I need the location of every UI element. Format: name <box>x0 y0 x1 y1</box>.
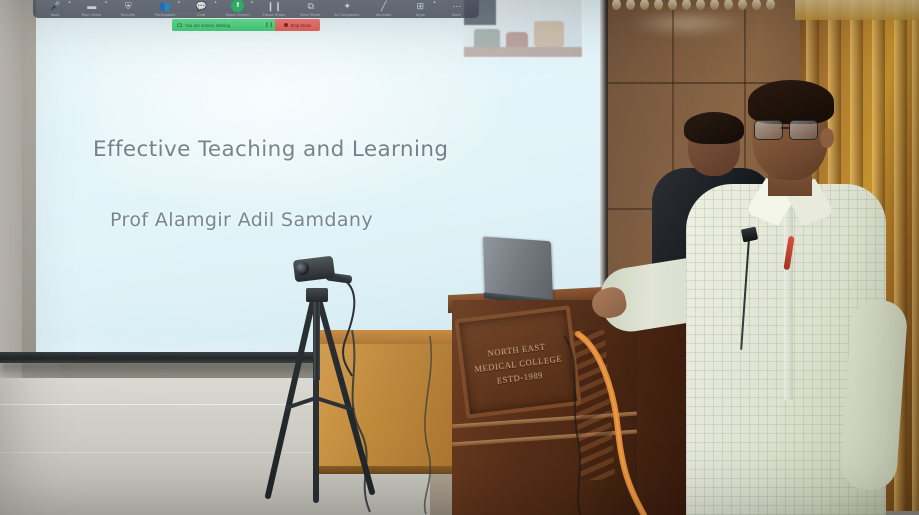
new-share-icon: ⧉ <box>308 1 314 12</box>
zoom-toolbar-item-pause-share[interactable]: ❙❙Pause Share <box>256 0 293 17</box>
pause-share-button[interactable]: ❙❙ <box>263 19 275 31</box>
chevron-up-icon[interactable]: ▲ <box>177 0 181 4</box>
zoom-toolbar-label: Share Screen <box>226 13 250 17</box>
zoom-toolbar-label: Stop Video <box>82 13 101 17</box>
speaker-hair <box>748 80 834 124</box>
left-wall-highlight <box>0 0 22 390</box>
webcam-cable <box>326 268 396 378</box>
tripod-head <box>306 288 328 302</box>
thumbnail-blob-3 <box>534 21 564 47</box>
video-camera-icon: ▬ <box>87 1 96 12</box>
stop-share-label: Stop Share <box>291 23 312 28</box>
participants-count-badge: 1 <box>175 0 177 1</box>
sparkle-icon: ✦ <box>343 1 351 12</box>
sharing-status: You are screen sharing <box>172 19 263 31</box>
zoom-toolbar-label: Annotate <box>376 13 392 17</box>
chevron-up-icon[interactable]: ▲ <box>68 0 72 4</box>
shield-icon: ⛨ <box>125 1 132 12</box>
zoom-toolbar-item-apps[interactable]: ⊞Apps▲ <box>402 0 439 17</box>
zoom-toolbar-label: Apps <box>416 13 425 17</box>
zoom-toolbar-label: More <box>452 13 461 17</box>
seated-person-hair <box>684 112 744 144</box>
projector-glow <box>96 14 526 224</box>
speaker-eyeglasses <box>754 120 826 140</box>
chat-bubble-icon: 💬 <box>196 1 207 12</box>
zoom-toolbar-label: Pause Share <box>263 13 286 17</box>
zoom-toolbar-item-participants[interactable]: 👥Participants▲1 <box>147 0 184 17</box>
pencil-icon: ╱ <box>381 1 386 12</box>
zoom-toolbar-label: Security <box>121 13 135 17</box>
participant-video-thumbnail[interactable] <box>463 0 583 58</box>
participants-icon: 👥 <box>159 1 170 12</box>
thumbnail-blob-2 <box>506 32 528 47</box>
chevron-up-icon[interactable]: ▲ <box>104 0 108 4</box>
screen-share-banner: You are screen sharing ❙❙ Stop Share <box>172 19 320 31</box>
shirt-placket <box>784 200 793 400</box>
wood-panel-sheen <box>628 10 748 36</box>
microphone-icon: 🎤 <box>50 1 61 12</box>
chevron-up-icon[interactable]: ▲ <box>214 0 218 4</box>
slide-title: Effective Teaching and Learning <box>93 137 523 162</box>
slide-presenter-name: Prof Alamgir Adil Samdany <box>110 209 540 231</box>
sharing-status-label: You are screen sharing <box>185 23 230 28</box>
stop-share-button[interactable]: Stop Share <box>275 19 320 31</box>
share-screen-icon: ⬆ <box>231 0 244 12</box>
zoom-toolbar-item-chat[interactable]: 💬Chat▲ <box>183 0 220 17</box>
apps-icon: ⊞ <box>416 1 424 12</box>
presentation-hall-photo: Effective Teaching and Learning Prof Ala… <box>0 0 919 515</box>
zoom-toolbar-label: New Share <box>301 13 321 17</box>
curtain-rings <box>612 0 812 12</box>
curtain-pelmet <box>795 0 919 20</box>
plaque-line-3: ESTD-1989 <box>496 370 543 386</box>
zoom-toolbar-label: Participants <box>154 13 175 17</box>
thumbnail-floor <box>464 47 582 57</box>
zoom-meeting-toolbar[interactable]: 🎤Mute▲▬Stop Video▲⛨Security👥Participants… <box>33 0 479 18</box>
zoom-toolbar-label: Mute <box>51 13 60 17</box>
zoom-toolbar-label: Chat <box>197 13 205 17</box>
screen-share-status-icon <box>177 23 182 28</box>
zoom-toolbar-item-security[interactable]: ⛨Security <box>110 0 147 17</box>
zoom-toolbar-item-stop-video[interactable]: ▬Stop Video▲ <box>74 0 111 17</box>
zoom-toolbar-item-mute[interactable]: 🎤Mute▲ <box>37 0 74 17</box>
zoom-toolbar-item-annotate[interactable]: ╱Annotate <box>366 0 403 17</box>
zoom-toolbar-label: AI Companion <box>335 13 360 17</box>
chevron-up-icon[interactable]: ▲ <box>433 0 437 4</box>
zoom-toolbar-item-new-share[interactable]: ⧉New Share <box>293 0 330 17</box>
zoom-toolbar-item-share-screen[interactable]: ⬆Share Screen▲ <box>220 0 257 17</box>
ellipsis-icon: ⋯ <box>452 1 461 12</box>
tripod-center-column <box>314 296 320 380</box>
chevron-up-icon[interactable]: ▲ <box>250 0 254 4</box>
stop-share-icon <box>284 23 288 27</box>
thumbnail-blob-1 <box>474 29 500 47</box>
zoom-toolbar-item-ai-companion[interactable]: ✦AI Companion <box>329 0 366 17</box>
orange-power-cable <box>560 330 680 515</box>
pause-icon: ❙❙ <box>267 1 282 12</box>
zoom-toolbar-item-more[interactable]: ⋯More <box>439 0 476 17</box>
